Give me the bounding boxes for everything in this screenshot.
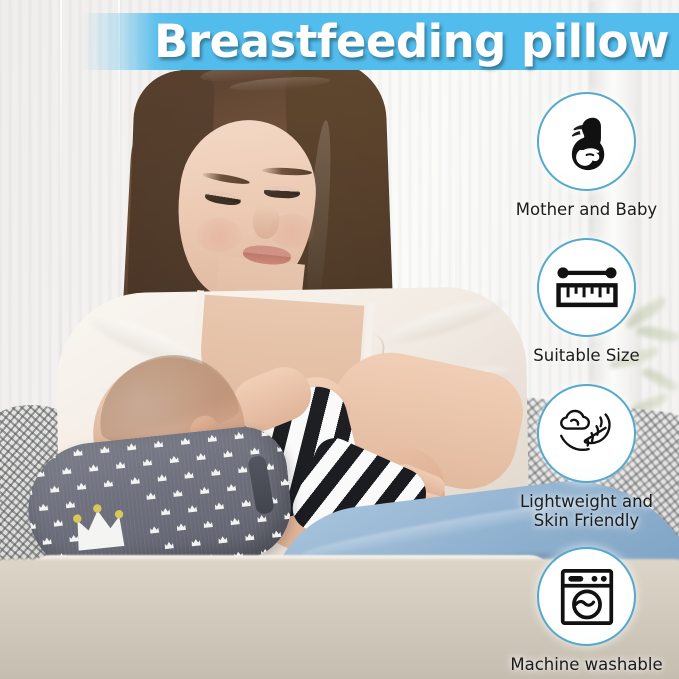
crown-motif (175, 522, 187, 531)
crown-motif (210, 467, 222, 476)
crown-motif (229, 517, 241, 526)
crown-motif (186, 504, 198, 513)
crown-motif (156, 473, 168, 482)
feature-suitable-size[interactable]: Suitable Size (494, 238, 679, 365)
crown-motif (206, 434, 218, 443)
feature-icon-circle (537, 384, 636, 483)
crown-motif (129, 476, 141, 485)
crown-motif (172, 488, 184, 497)
crown-motif (260, 428, 272, 437)
cloud-feather-icon (555, 405, 619, 463)
crown-motif (38, 503, 50, 512)
crown-motif (217, 535, 229, 544)
crown-motif (76, 481, 88, 490)
ruler-measure-icon (555, 263, 619, 313)
washing-machine-icon (559, 567, 615, 627)
crown-motif (68, 534, 80, 543)
crown-motif-large (70, 500, 129, 553)
feature-lightweight-skin-friendly[interactable]: Lightweight and Skin Friendly (494, 384, 679, 530)
crown-motif (225, 483, 237, 492)
crown-motif (222, 449, 234, 458)
crown-motif (64, 500, 76, 509)
crown-motif (52, 518, 64, 527)
crown-motif (160, 507, 172, 516)
crown-motif (249, 446, 261, 455)
crown-motif (49, 484, 61, 493)
crown-motif (88, 463, 100, 472)
crown-motif (45, 450, 57, 459)
crown-motif (199, 486, 211, 495)
feature-machine-washable[interactable]: Machine washable (494, 547, 679, 674)
crown-motif (240, 498, 252, 507)
crown-motif (168, 455, 180, 464)
crown-motif (115, 460, 127, 469)
crown-motif (102, 479, 114, 488)
crown-motif (34, 469, 46, 478)
crown-motif (153, 439, 165, 448)
crown-motif (233, 431, 245, 440)
crown-motif (22, 453, 30, 462)
crown-motif (61, 466, 73, 475)
crown-motif (72, 448, 84, 457)
feature-label: Mother and Baby (516, 200, 657, 219)
crown-motif (237, 465, 249, 474)
crown-motif (256, 514, 268, 523)
feature-icon-circle (537, 547, 636, 646)
crown-motif (183, 470, 195, 479)
feature-icon-circle (537, 238, 636, 337)
crown-motif (195, 452, 207, 461)
crown-motif (190, 538, 202, 547)
product-poster: Breastfeeding pillow (0, 0, 679, 679)
title-banner: Breastfeeding pillow (0, 13, 679, 70)
crown-motif (286, 545, 296, 554)
feature-label: Lightweight and Skin Friendly (520, 492, 653, 530)
crown-motif (202, 519, 214, 528)
crown-motif (141, 457, 153, 466)
feature-label: Machine washable (510, 655, 662, 674)
feature-list: Mother and Baby (494, 92, 679, 679)
crown-motif (126, 442, 138, 451)
crown-motif (163, 541, 175, 550)
crown-motif (179, 436, 191, 445)
feature-mother-and-baby[interactable]: Mother and Baby (494, 92, 679, 219)
crown-motif (41, 536, 53, 545)
crown-motif (244, 532, 256, 541)
mother-baby-icon (556, 111, 618, 173)
crown-motif (99, 445, 111, 454)
crown-motif (148, 525, 160, 534)
crown-motif (213, 501, 225, 510)
crown-motif (145, 491, 157, 500)
feature-label: Suitable Size (533, 346, 639, 365)
crown-motif (271, 529, 283, 538)
page-title: Breastfeeding pillow (154, 15, 669, 68)
feature-icon-circle (537, 92, 636, 191)
